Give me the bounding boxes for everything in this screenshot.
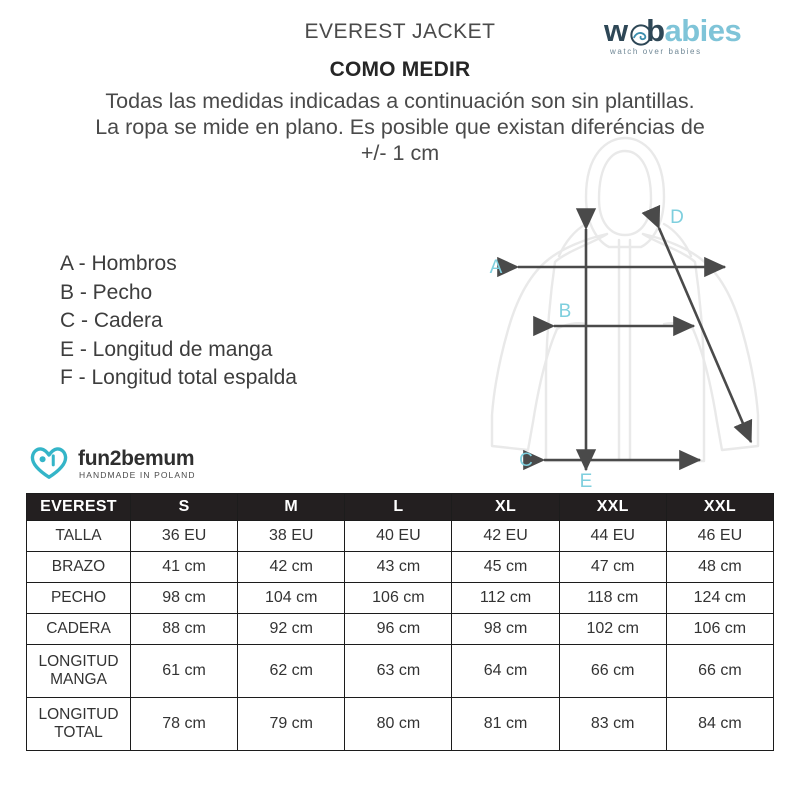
table-cell: 98 cm — [452, 614, 559, 645]
row-label: TALLA — [27, 521, 131, 552]
table-header-cell-3: L — [345, 494, 452, 521]
table-cell: 44 EU — [559, 521, 666, 552]
table-cell: 41 cm — [131, 552, 238, 583]
wobabies-logo: wobabies watch over babies — [604, 14, 774, 62]
table-cell: 124 cm — [666, 583, 773, 614]
measurement-legend: A - Hombros B - Pecho C - Cadera E - Lon… — [60, 250, 390, 393]
legend-item-a: A - Hombros — [60, 250, 390, 279]
table-cell: 38 EU — [238, 521, 345, 552]
legend-item-f: F - Longitud total espalda — [60, 364, 390, 393]
fun2bemum-wordmark: fun2bemum — [78, 448, 194, 470]
row-label: LONGITUD MANGA — [27, 645, 131, 698]
table-cell: 42 EU — [452, 521, 559, 552]
diagram-label-d: D — [670, 207, 684, 228]
table-cell: 104 cm — [238, 583, 345, 614]
table-cell: 83 cm — [559, 698, 666, 751]
table-cell: 63 cm — [345, 645, 452, 698]
table-cell: 112 cm — [452, 583, 559, 614]
heart-icon — [30, 446, 68, 480]
diagram-label-c: C — [519, 450, 533, 471]
table-cell: 118 cm — [559, 583, 666, 614]
wobabies-abies: abies — [665, 13, 742, 48]
table-cell: 43 cm — [345, 552, 452, 583]
table-cell: 47 cm — [559, 552, 666, 583]
row-label: BRAZO — [27, 552, 131, 583]
table-header-row: EVEREST S M L XL XXL XXL — [27, 494, 774, 521]
row-label-line2: TOTAL — [27, 724, 130, 742]
fun2bemum-tagline: HANDMADE IN POLAND — [79, 470, 196, 480]
table-row: LONGITUD MANGA 61 cm 62 cm 63 cm 64 cm 6… — [27, 645, 774, 698]
size-chart-table: EVEREST S M L XL XXL XXL TALLA 36 EU 38 … — [26, 493, 774, 751]
table-cell: 106 cm — [345, 583, 452, 614]
table-cell: 66 cm — [559, 645, 666, 698]
wobabies-w: w — [604, 13, 628, 48]
table-row: TALLA 36 EU 38 EU 40 EU 42 EU 44 EU 46 E… — [27, 521, 774, 552]
table-cell: 96 cm — [345, 614, 452, 645]
legend-item-b: B - Pecho — [60, 279, 390, 308]
diagram-label-e: E — [580, 471, 593, 490]
wobabies-tagline: watch over babies — [610, 47, 702, 56]
table-header-cell-5: XXL — [559, 494, 666, 521]
table-cell: 62 cm — [238, 645, 345, 698]
legend-item-e: E - Longitud de manga — [60, 336, 390, 365]
table-row: LONGITUD TOTAL 78 cm 79 cm 80 cm 81 cm 8… — [27, 698, 774, 751]
table-row: CADERA 88 cm 92 cm 96 cm 98 cm 102 cm 10… — [27, 614, 774, 645]
row-label-line1: LONGITUD — [27, 653, 130, 671]
table-cell: 66 cm — [666, 645, 773, 698]
table-cell: 42 cm — [238, 552, 345, 583]
table-cell: 84 cm — [666, 698, 773, 751]
diagram-label-b: B — [559, 301, 572, 322]
table-cell: 36 EU — [131, 521, 238, 552]
table-cell: 79 cm — [238, 698, 345, 751]
table-row: BRAZO 41 cm 42 cm 43 cm 45 cm 47 cm 48 c… — [27, 552, 774, 583]
table-cell: 81 cm — [452, 698, 559, 751]
row-label-line2: MANGA — [27, 671, 130, 689]
row-label: CADERA — [27, 614, 131, 645]
table-header-cell-0: EVEREST — [27, 494, 131, 521]
table-cell: 92 cm — [238, 614, 345, 645]
table-cell: 106 cm — [666, 614, 773, 645]
table-cell: 40 EU — [345, 521, 452, 552]
table-header-cell-1: S — [131, 494, 238, 521]
table-cell: 80 cm — [345, 698, 452, 751]
jacket-outline — [492, 138, 758, 461]
wobabies-wordmark: wobabies — [604, 14, 741, 48]
table-cell: 45 cm — [452, 552, 559, 583]
wave-swirl-icon — [630, 24, 652, 46]
diagram-label-a: A — [490, 257, 503, 278]
intro-line-1: Todas las medidas indicadas a continuaci… — [40, 88, 760, 114]
table-cell: 102 cm — [559, 614, 666, 645]
table-cell: 46 EU — [666, 521, 773, 552]
table-row: PECHO 98 cm 104 cm 106 cm 112 cm 118 cm … — [27, 583, 774, 614]
table-header-cell-6: XXL — [666, 494, 773, 521]
table-cell: 88 cm — [131, 614, 238, 645]
table-header-cell-4: XL — [452, 494, 559, 521]
row-label: PECHO — [27, 583, 131, 614]
table-cell: 64 cm — [452, 645, 559, 698]
jacket-measurement-diagram: A B C D E — [455, 130, 795, 490]
fun2bemum-logo: fun2bemum HANDMADE IN POLAND — [30, 444, 210, 482]
table-cell: 78 cm — [131, 698, 238, 751]
row-label: LONGITUD TOTAL — [27, 698, 131, 751]
legend-item-c: C - Cadera — [60, 307, 390, 336]
table-cell: 48 cm — [666, 552, 773, 583]
row-label-line1: LONGITUD — [27, 706, 130, 724]
table-cell: 61 cm — [131, 645, 238, 698]
table-cell: 98 cm — [131, 583, 238, 614]
table-header-cell-2: M — [238, 494, 345, 521]
measurement-arrows — [518, 228, 751, 470]
